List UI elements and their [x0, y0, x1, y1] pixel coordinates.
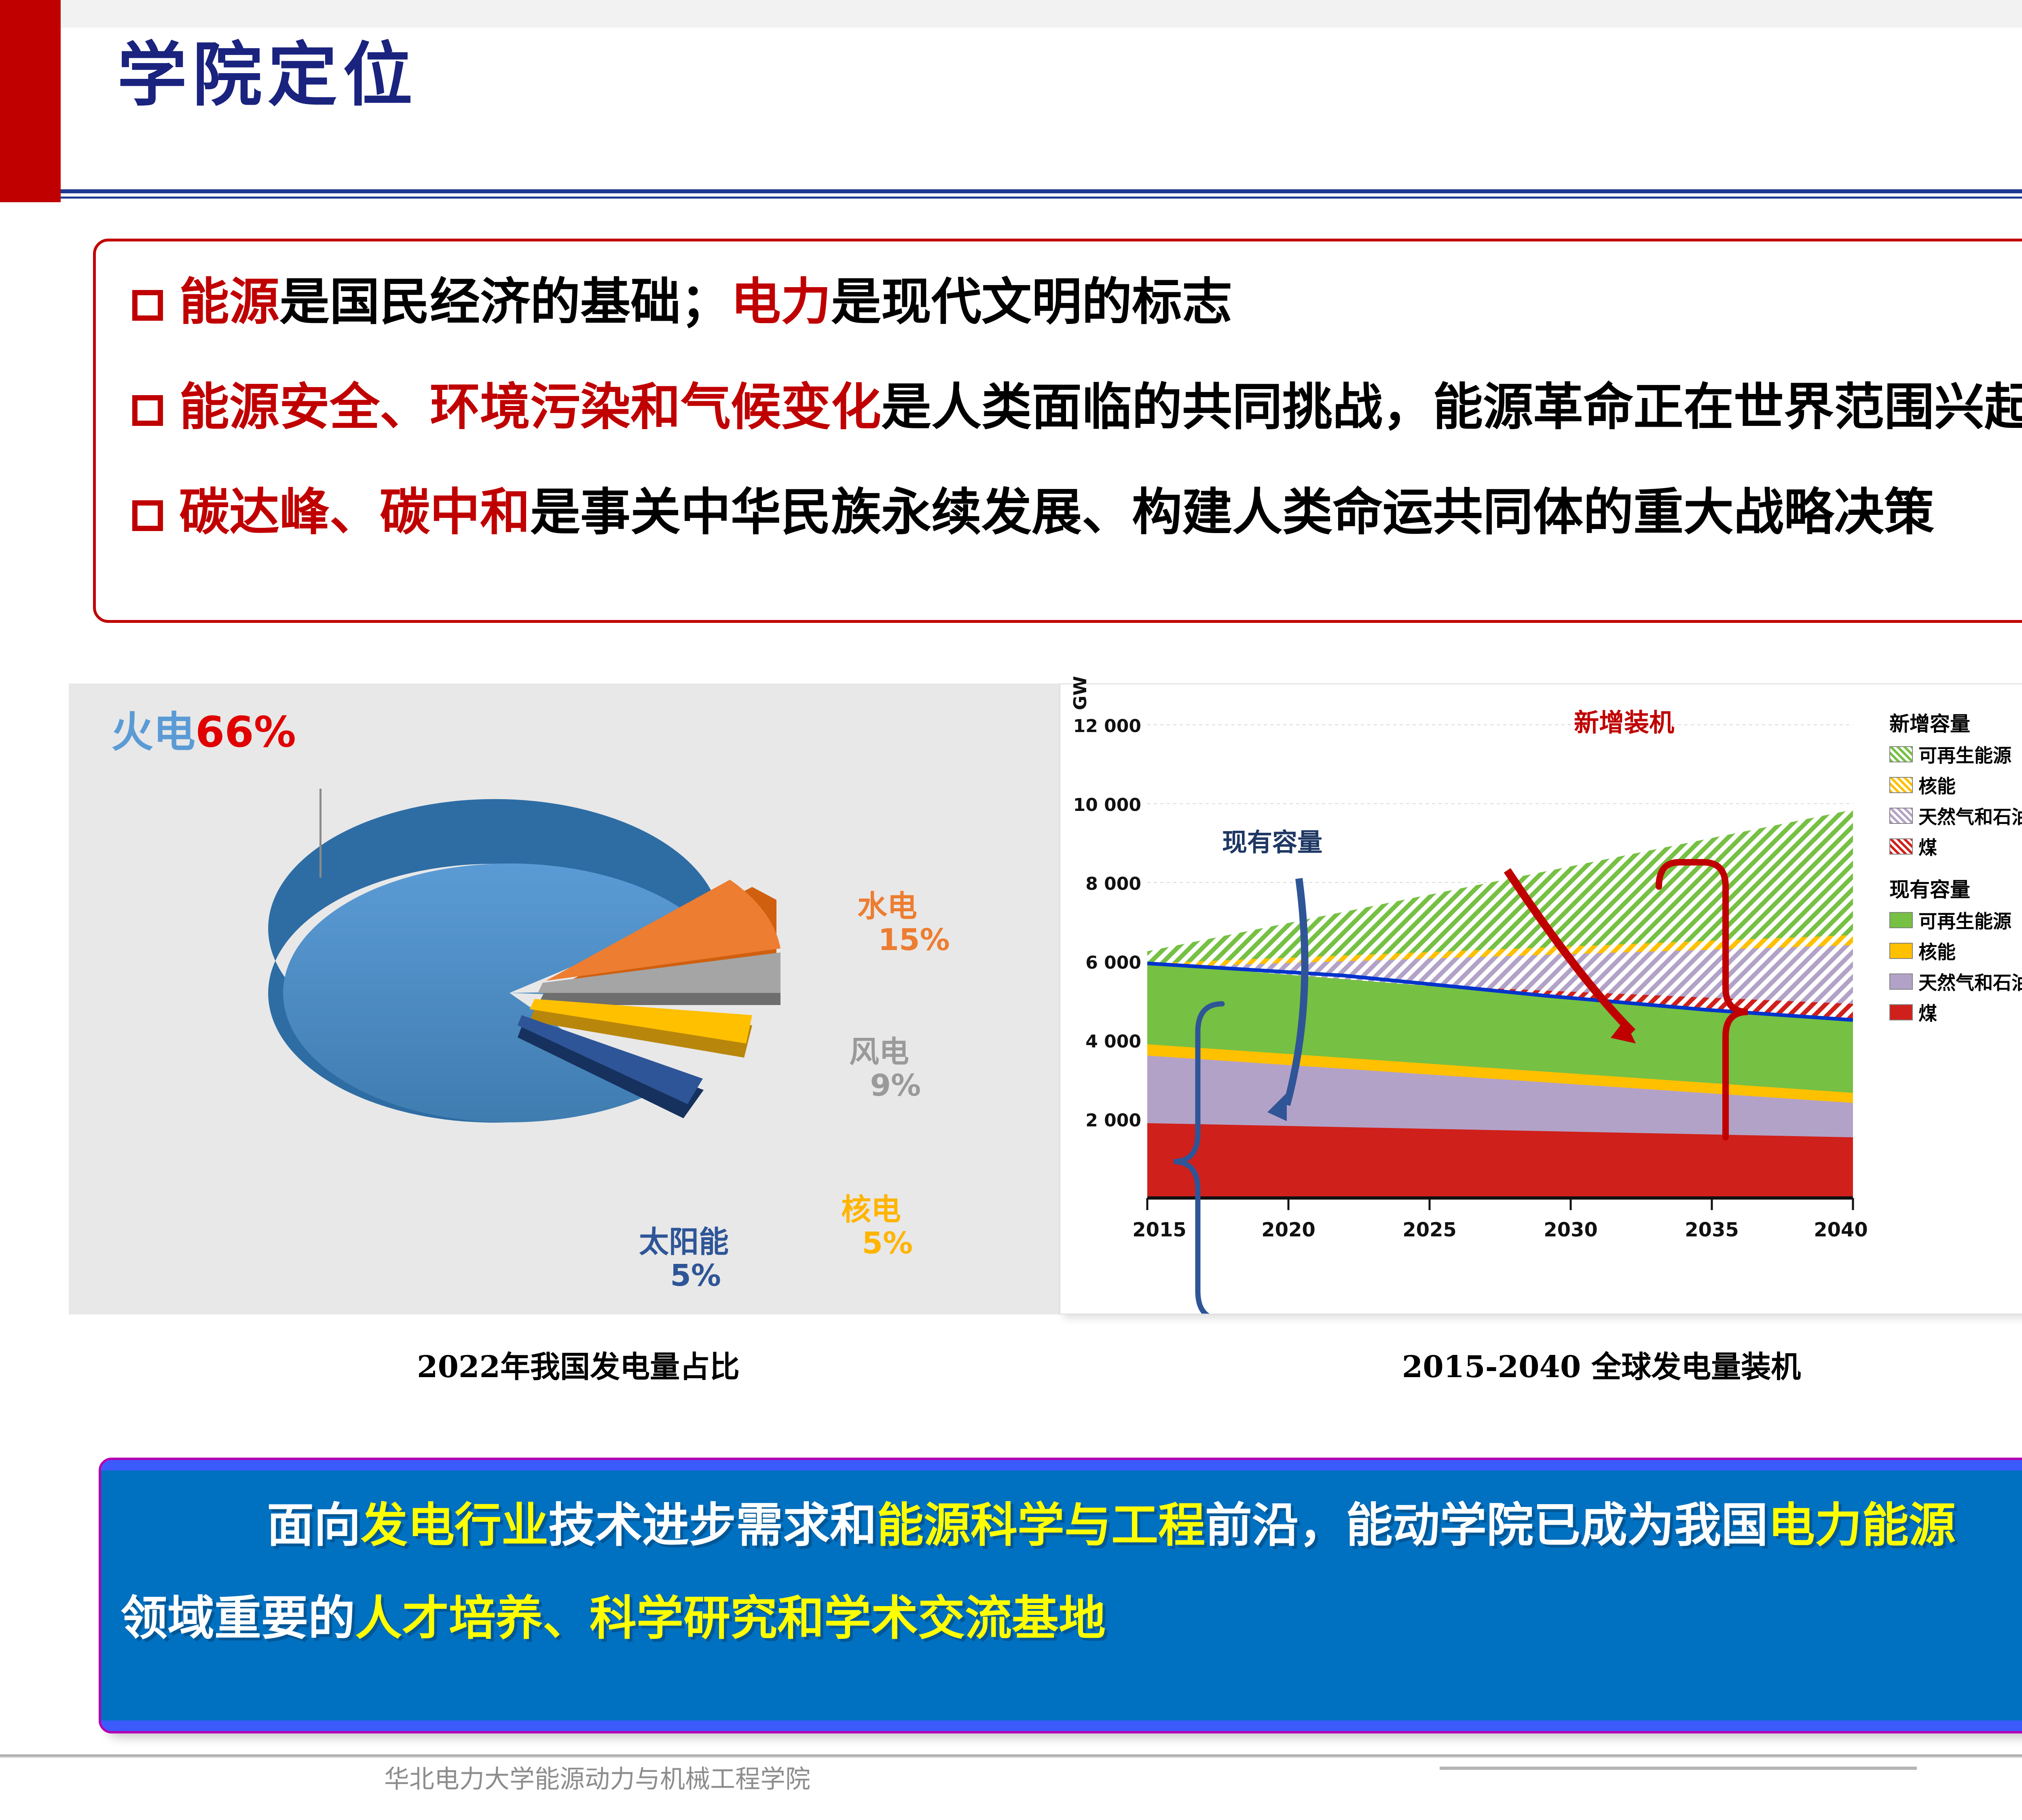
svg-text:8 000: 8 000	[1085, 874, 1141, 894]
slide-root: 学院定位 1958 NORTH CHINA 华北电力大学 NORTH CHINA…	[0, 0, 2022, 1820]
bullet-item-1: 能源是国民经济的基础；电力是现代文明的标志	[132, 277, 1232, 327]
svg-text:4 000: 4 000	[1085, 1031, 1141, 1052]
legend-item-existing-gasoil: 天然气和石油	[1889, 968, 2022, 995]
svg-text:2025: 2025	[1402, 1219, 1457, 1241]
svg-text:2040: 2040	[1814, 1219, 1868, 1241]
legend-item-existing-coal: 煤	[1889, 999, 2022, 1026]
pie-title-thermal: 火电66%	[111, 698, 296, 759]
page-title: 学院定位	[117, 40, 418, 110]
legend-swatch-coal-hatched	[1889, 838, 1913, 855]
figure-caption-area: 2015-2040 全球发电量装机	[1060, 1343, 2022, 1386]
header-divider-line-secondary	[61, 197, 2022, 199]
bullet-text-3: 碳达峰、碳中和是事关中华民族永续发展、构建人类命运共同体的重大战略决策	[179, 483, 1934, 542]
area-chart-canvas: 12 000 10 000 8 000 6 000 4 000 2 000	[1060, 684, 2022, 1314]
pie-label-hydro: 水电 15%	[857, 890, 950, 957]
pie-chart-canvas	[202, 775, 890, 1240]
legend-item-existing-nuclear: 核能	[1889, 938, 2022, 964]
area-annotation-existing-capacity: 现有容量	[1222, 822, 1322, 858]
bullet-item-2: 能源安全、环境污染和气候变化是人类面临的共同挑战，能源革命正在世界范围兴起	[132, 382, 2022, 432]
bullet-text-2: 能源安全、环境污染和气候变化是人类面临的共同挑战，能源革命正在世界范围兴起	[179, 378, 2022, 436]
legend-item-new-nuclear: 核能	[1889, 772, 2022, 798]
svg-text:2015: 2015	[1132, 1219, 1187, 1241]
legend-label: 天然气和石油	[1918, 802, 2022, 829]
header-red-accent-bar	[0, 0, 61, 202]
legend-label: 可再生能源	[1918, 741, 2011, 768]
pie-label-wind: 风电 9%	[849, 1035, 921, 1103]
legend-swatch-coal	[1889, 1004, 1913, 1020]
legend-swatch-renewable-hatched	[1889, 746, 1913, 762]
legend-label: 煤	[1918, 999, 1937, 1026]
legend-item-new-gasoil: 天然气和石油	[1889, 802, 2022, 829]
legend-label: 可再生能源	[1918, 907, 2011, 933]
legend-label: 核能	[1918, 938, 1956, 964]
legend-group-title-new: 新增容量	[1889, 708, 2022, 737]
conclusion-banner: 面向发电行业技术进步需求和能源科学与工程前沿，能动学院已成为我国电力能源 领域重…	[101, 1460, 2022, 1731]
legend-swatch-nuclear-hatched	[1889, 777, 1913, 793]
svg-text:2020: 2020	[1261, 1219, 1316, 1241]
svg-text:2035: 2035	[1685, 1219, 1739, 1241]
legend-item-existing-renewable: 可再生能源	[1889, 907, 2022, 933]
svg-text:6 000: 6 000	[1085, 952, 1141, 973]
banner-text-line-1: 面向发电行业技术进步需求和能源科学与工程前沿，能动学院已成为我国电力能源	[267, 1502, 1956, 1549]
area-chart-y-axis-label: GW	[1070, 676, 1091, 710]
legend-swatch-renewable	[1889, 912, 1913, 928]
area-chart-legend: 新增容量 可再生能源 核能 天然气和石油 煤 现有容量 可再生能源	[1889, 705, 2022, 1030]
bullet-marker-square-icon	[132, 395, 163, 426]
footer-left-text: 华北电力大学能源动力与机械工程学院	[384, 1759, 810, 1795]
pie-leader-line-thermal	[319, 789, 321, 878]
svg-text:12 000: 12 000	[1073, 716, 1141, 736]
legend-swatch-gasoil-hatched	[1889, 808, 1913, 824]
footer-dash-center	[1440, 1767, 1917, 1770]
legend-item-new-renewable: 可再生能源	[1889, 741, 2022, 768]
header-grey-band	[61, 0, 2022, 28]
legend-item-new-coal: 煤	[1889, 833, 2022, 860]
legend-swatch-gasoil	[1889, 973, 1913, 990]
figure-caption-pie: 2022年我国发电量占比	[69, 1343, 1088, 1386]
area-annotation-new-capacity: 新增装机	[1574, 702, 1674, 739]
key-points-box: 能源是国民经济的基础；电力是现代文明的标志 能源安全、环境污染和气候变化是人类面…	[93, 239, 2022, 623]
pie-chart-figure: 火电66%	[69, 684, 1088, 1314]
legend-label: 煤	[1918, 833, 1937, 860]
legend-label: 核能	[1918, 772, 1956, 798]
bullet-marker-square-icon	[132, 290, 163, 321]
svg-text:10 000: 10 000	[1073, 795, 1141, 815]
footer-divider	[0, 1754, 2022, 1758]
banner-text-line-2: 领域重要的人才培养、科学研究和学术交流基地	[121, 1595, 1106, 1642]
area-chart-figure: GW	[1060, 684, 2022, 1314]
bullet-text-1: 能源是国民经济的基础；电力是现代文明的标志	[179, 273, 1232, 331]
legend-swatch-nuclear	[1889, 943, 1913, 959]
legend-label: 天然气和石油	[1918, 968, 2022, 995]
legend-group-title-existing: 现有容量	[1889, 874, 2022, 903]
pie-label-nuclear: 核电 5%	[841, 1193, 913, 1260]
pie-label-solar: 太阳能 5%	[639, 1225, 729, 1293]
svg-text:2 000: 2 000	[1085, 1110, 1141, 1131]
svg-text:2030: 2030	[1544, 1219, 1598, 1241]
header-divider-line	[61, 189, 2022, 193]
bullet-marker-square-icon	[132, 500, 163, 531]
bullet-item-3: 碳达峰、碳中和是事关中华民族永续发展、构建人类命运共同体的重大战略决策	[132, 487, 1934, 538]
